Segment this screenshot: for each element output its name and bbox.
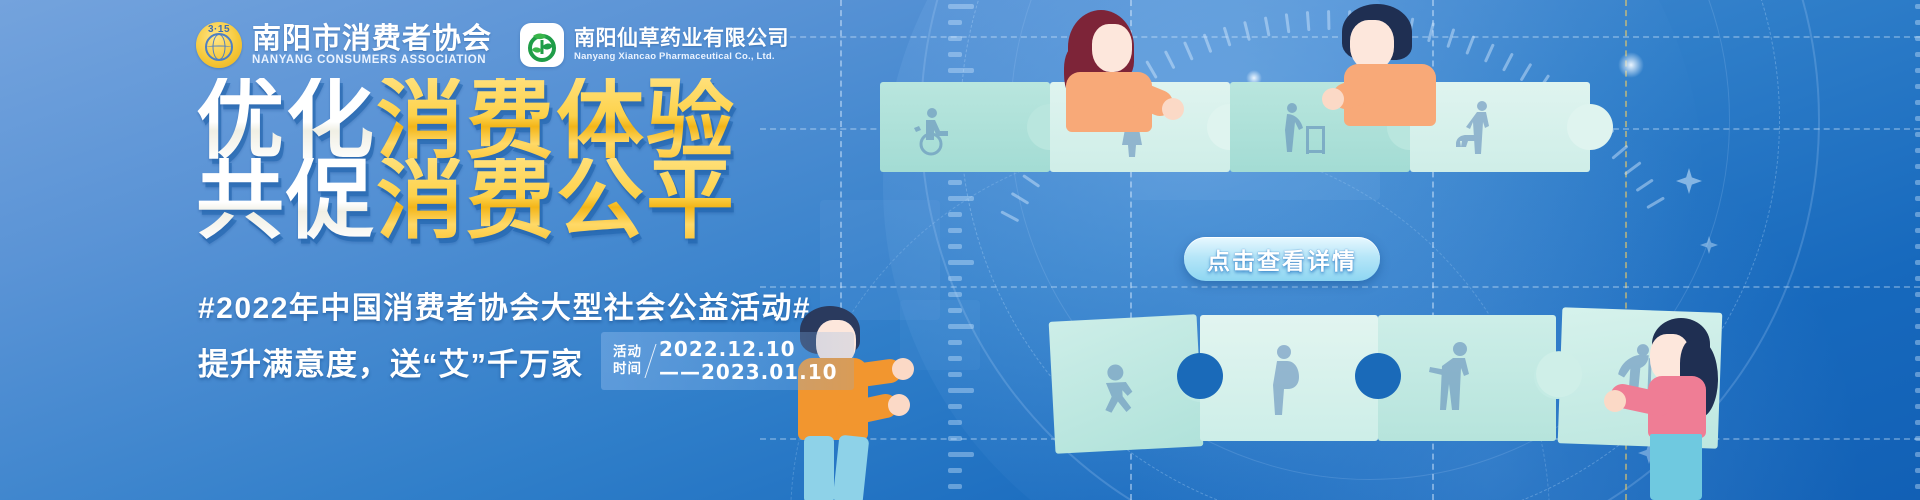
graduate-student-silhouette: [1108, 100, 1156, 158]
text-content: 3·15 南阳市消费者协会 NANYANG CONSUMERS ASSOCIAT…: [0, 0, 790, 500]
hand-lower: [888, 394, 910, 416]
glow-dot-3: [1545, 118, 1559, 132]
person-with-guide-dog-silhouette: [1450, 98, 1514, 158]
person-woman-pink-top: [1632, 318, 1762, 500]
315-globe-icon: 3·15: [196, 22, 242, 68]
hair-back: [1680, 340, 1718, 418]
leg-right: [833, 435, 870, 500]
date-label: 活动 时间: [613, 344, 642, 378]
hand: [1322, 88, 1344, 110]
person-woman-red-hair: [1058, 6, 1178, 136]
sparkle-star-1: [1324, 140, 1354, 170]
puzzle-piece-elderly-with-cane: [1558, 307, 1723, 449]
headline-2-part-2: 消费公平: [376, 158, 736, 242]
arm: [1608, 382, 1674, 418]
skirt: [1650, 434, 1702, 500]
hair: [1652, 318, 1710, 370]
puzzle-piece-graduate: [1050, 82, 1230, 172]
arm-lower: [834, 392, 900, 428]
leg-left: [804, 436, 834, 500]
subtitle: #2022年中国消费者协会大型社会公益活动#: [198, 283, 811, 327]
logo-row: 3·15 南阳市消费者协会 NANYANG CONSUMERS ASSOCIAT…: [196, 22, 789, 68]
arm: [1329, 69, 1391, 113]
headline: 优化 消费体验 共促 消费公平: [196, 78, 736, 243]
arm: [1113, 74, 1177, 120]
soft-panel-1: [1130, 0, 1380, 200]
date-values: 2022.12.10 ——2023.01.10: [659, 338, 838, 384]
logo-name-cn: 南阳市消费者协会: [252, 24, 492, 54]
date-label-line-2: 时间: [613, 361, 642, 378]
date-end: ——2023.01.10: [659, 361, 838, 384]
date-start: 2022.12.10: [659, 338, 838, 361]
hair-back: [1064, 46, 1092, 102]
wheelchair-user-silhouette: [908, 104, 960, 156]
tick-ruler-right: [1915, 0, 1920, 500]
headline-2-part-1: 共促: [196, 158, 376, 242]
pregnant-woman-silhouette: [1262, 343, 1310, 417]
logo-name-en: NANYANG CONSUMERS ASSOCIATION: [252, 54, 492, 66]
hand-upper: [892, 358, 914, 380]
headline-line-2: 共促 消费公平: [196, 158, 736, 242]
glow-dot-2: [1246, 70, 1262, 86]
globe-shape: [205, 33, 233, 61]
face: [1350, 20, 1394, 70]
date-divider: [644, 344, 656, 378]
hand: [1162, 98, 1184, 120]
date-badge: 活动 时间 2022.12.10 ——2023.01.10: [601, 332, 854, 390]
hair: [1342, 4, 1412, 60]
grid-line-h2: [760, 128, 1920, 130]
tagline: 提升满意度，送“艾”千万家: [198, 339, 583, 384]
green-leaf-icon: [520, 23, 564, 67]
puzzle-piece-child: [1049, 314, 1204, 454]
torso: [1344, 64, 1436, 126]
person-man-dark-hair: [1320, 2, 1450, 137]
glow-circle-b: [1114, 90, 1874, 500]
soft-panel-2: [820, 200, 940, 320]
logo-consumers-association: 3·15 南阳市消费者协会 NANYANG CONSUMERS ASSOCIAT…: [196, 22, 492, 68]
tick-ruler-left: [948, 0, 992, 500]
face: [1092, 24, 1132, 72]
child-playing-silhouette: [1091, 359, 1150, 414]
face: [1650, 334, 1690, 382]
puzzle-piece-pregnant-woman: [1200, 315, 1378, 441]
grid-line-h4: [760, 438, 1920, 440]
tagline-row: 提升满意度，送“艾”千万家 活动 时间 2022.12.10 ——2023.01…: [198, 332, 854, 390]
hair: [1068, 10, 1134, 84]
soft-panel-3: [900, 300, 980, 370]
torso: [1648, 376, 1706, 438]
logo-name-en: Nanyang Xiancao Pharmaceutical Co., Ltd.: [574, 51, 789, 62]
sparkle-star-3: [1700, 236, 1718, 254]
puzzle-piece-parent-and-child: [1378, 315, 1556, 441]
promo-banner: 点击查看详情 3·15 南阳市消费者协会 NANYANG CONSUMERS A…: [0, 0, 1920, 500]
torso: [1066, 72, 1152, 132]
sparkle-star-2: [1676, 168, 1702, 194]
view-details-label: 点击查看详情: [1207, 242, 1357, 276]
tech-ring-4: [790, 140, 1550, 500]
grid-line-h3: [760, 286, 1920, 288]
elderly-with-cane-silhouette: [1607, 339, 1665, 411]
glow-dot-1: [1618, 52, 1644, 78]
logo-name-cn: 南阳仙草药业有限公司: [574, 28, 789, 50]
grid-line-v2: [1130, 0, 1132, 500]
date-label-line-1: 活动: [613, 344, 642, 361]
sparkle-star-4: [1638, 442, 1660, 464]
leaf-circle-glyph: [525, 28, 559, 62]
hand: [1604, 390, 1626, 412]
elderly-with-walker-silhouette: [1278, 100, 1332, 158]
grid-line-v3: [1432, 0, 1434, 500]
view-details-button[interactable]: 点击查看详情: [1184, 237, 1380, 281]
logo-xiancao-pharma: 南阳仙草药业有限公司 Nanyang Xiancao Pharmaceutica…: [520, 23, 789, 67]
grid-line-v4: [1625, 0, 1627, 500]
puzzle-piece-wheelchair: [880, 82, 1050, 172]
puzzle-piece-guide-dog: [1410, 82, 1590, 172]
grid-line-v1: [840, 0, 842, 500]
grid-line-h1: [760, 36, 1920, 38]
puzzle-piece-walker: [1230, 82, 1410, 172]
parent-and-child-silhouette: [1422, 339, 1486, 415]
